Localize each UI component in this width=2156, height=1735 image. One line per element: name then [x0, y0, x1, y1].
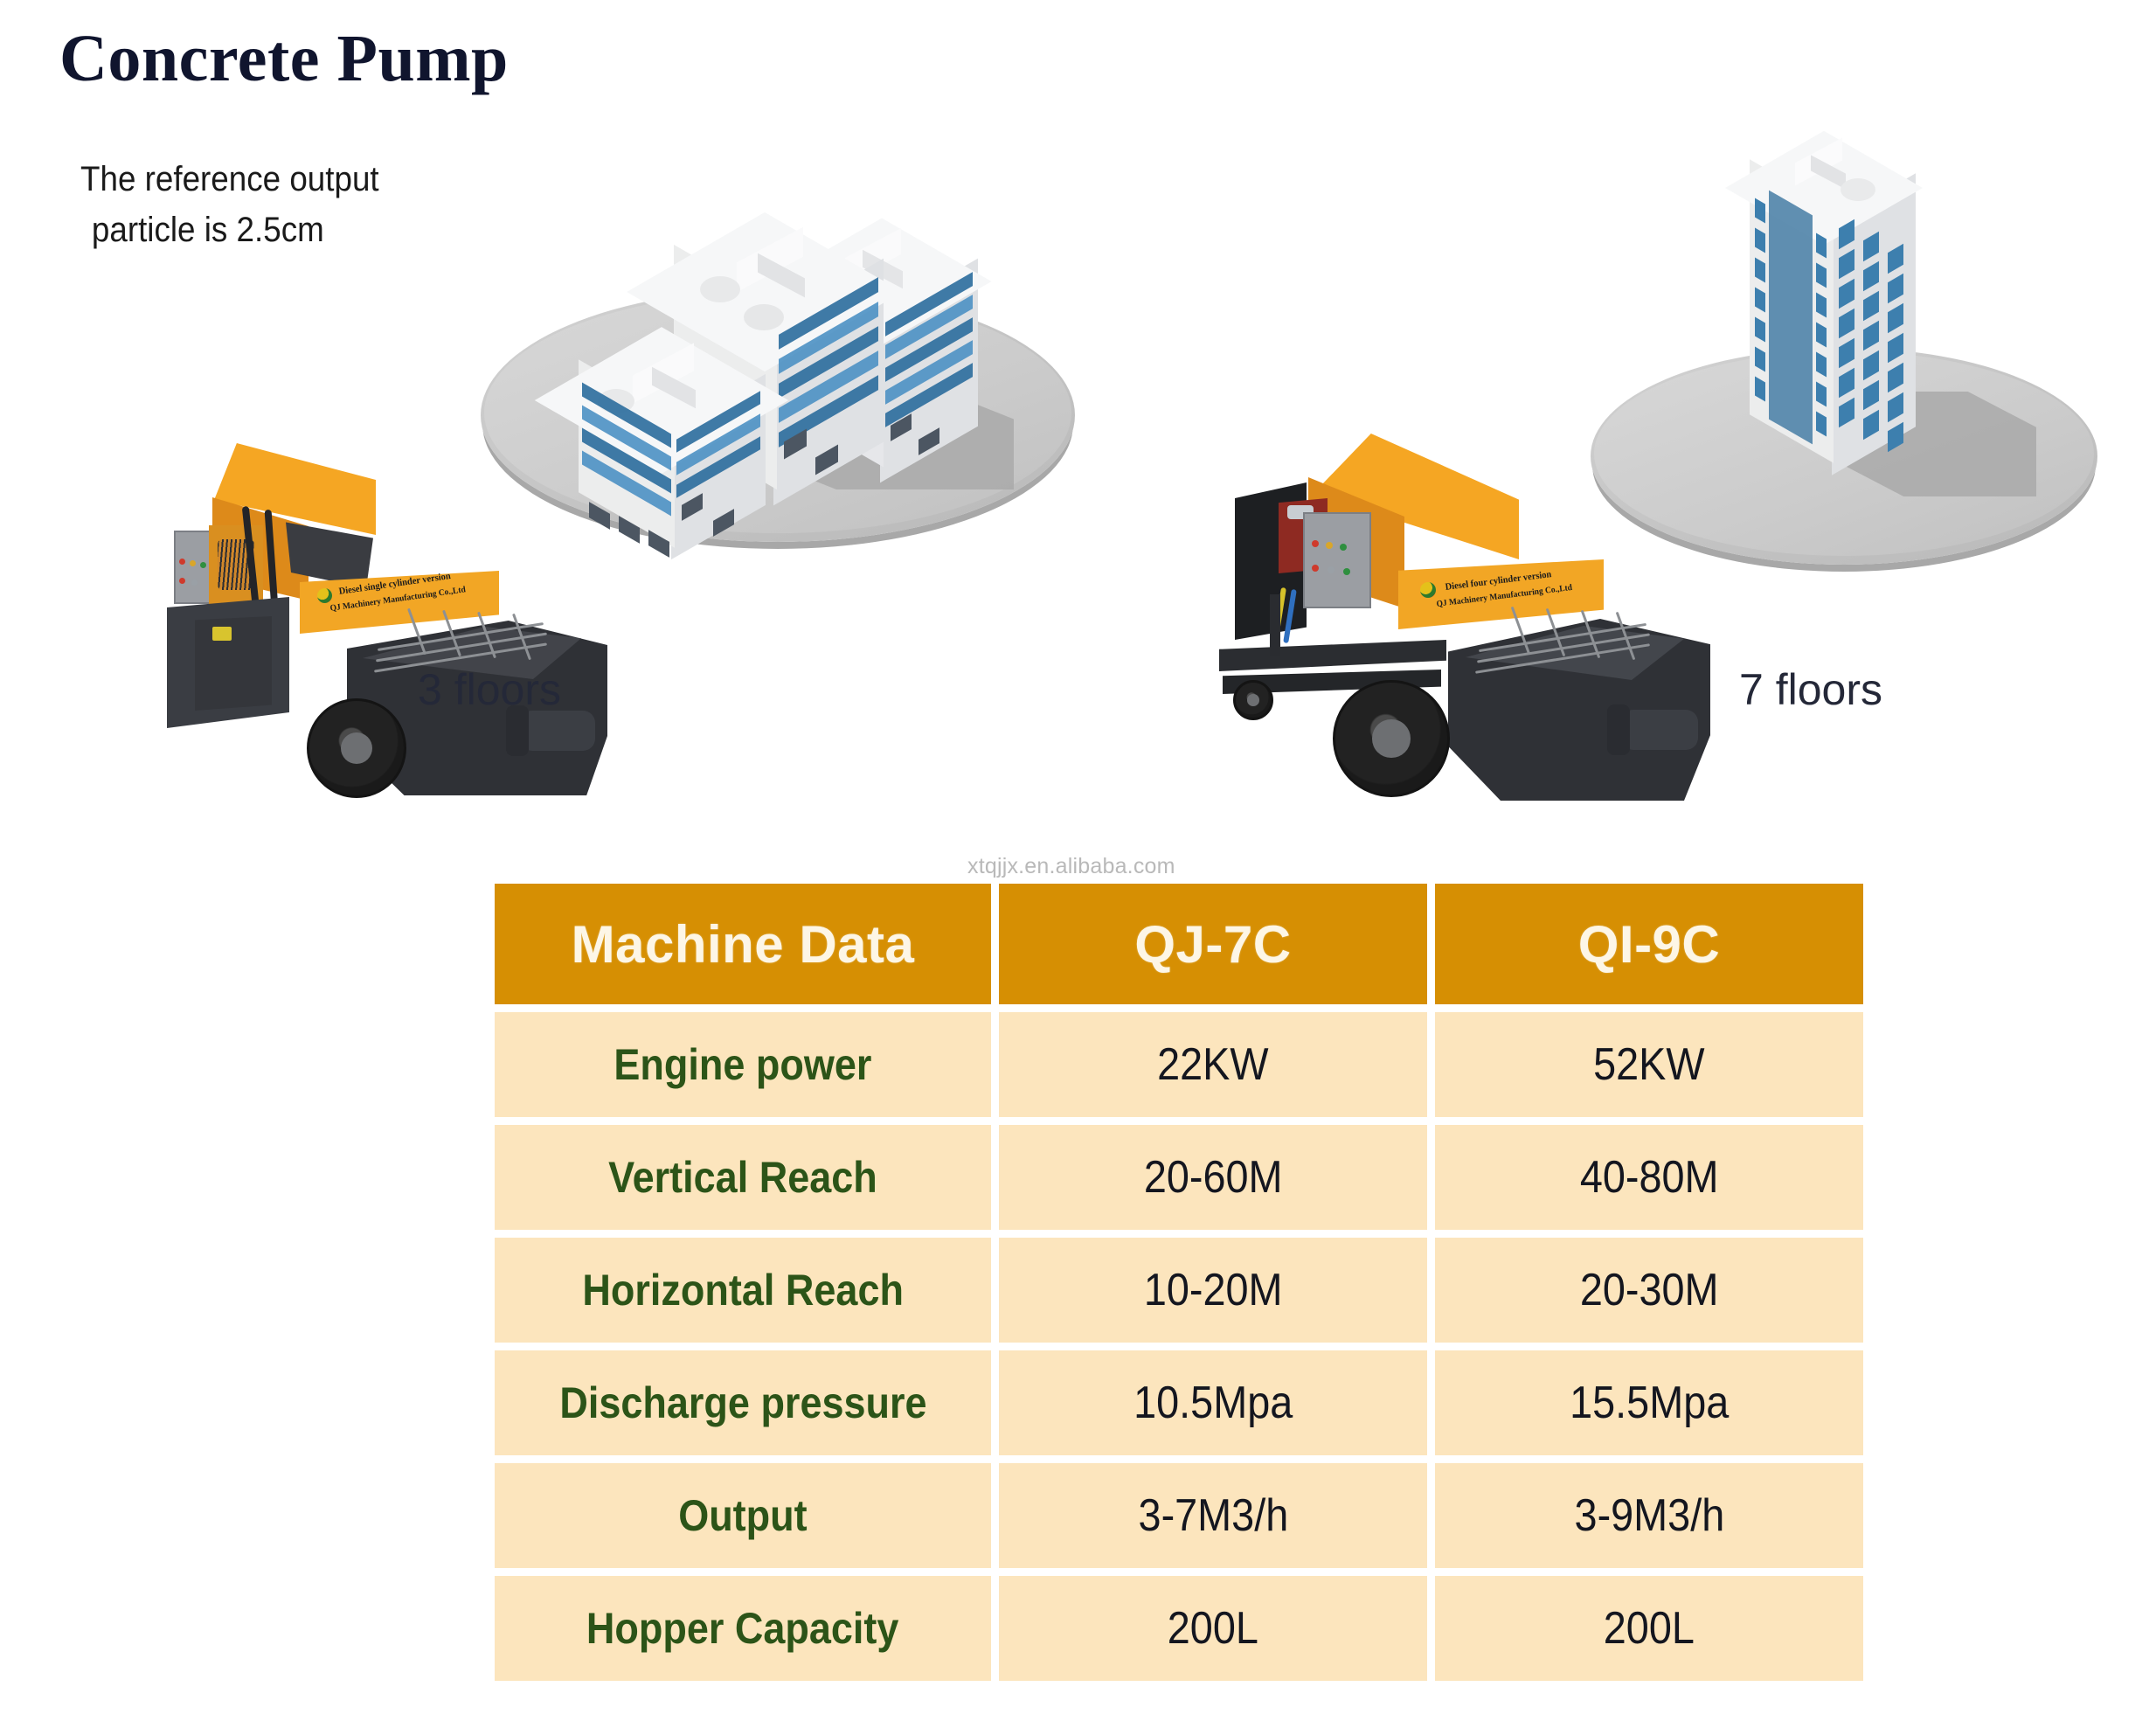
row-value-text: 15.5Mpa: [1570, 1377, 1729, 1429]
row-value-qj7c: 10-20M: [999, 1238, 1427, 1343]
concrete-pump-machine-left: Diesel single cylinder version QJ Machin…: [144, 433, 642, 843]
row-value-text: 10-20M: [1144, 1264, 1283, 1316]
header-model-qj7c: QJ-7C: [999, 884, 1427, 1004]
subtitle-text: The reference output particle is 2.5cm: [80, 154, 498, 255]
row-value-qj7c: 3-7M3/h: [999, 1463, 1427, 1568]
tower-glass-curtain: [1769, 191, 1813, 445]
caster-wheel: [1233, 680, 1273, 720]
row-value-qi9c: 3-9M3/h: [1435, 1463, 1863, 1568]
row-value-text: 52KW: [1593, 1038, 1704, 1091]
control-panel: [1303, 512, 1371, 608]
row-value-text: 3-9M3/h: [1574, 1489, 1724, 1542]
rooftop-tank: [744, 304, 784, 330]
table-row: Hopper Capacity 200L 200L: [495, 1576, 1863, 1681]
row-value-qj7c: 200L: [999, 1576, 1427, 1681]
indicator-light: [1312, 565, 1319, 572]
row-label-text: Discharge pressure: [559, 1378, 926, 1428]
floor-caption-left: 3 floors: [418, 664, 561, 715]
machine-wheel: [1333, 680, 1450, 797]
row-label-text: Hopper Capacity: [586, 1603, 899, 1654]
row-label: Engine power: [495, 1012, 991, 1117]
row-value-text: 22KW: [1157, 1038, 1268, 1091]
row-value-qi9c: 20-30M: [1435, 1238, 1863, 1343]
machine-wheel: [307, 698, 406, 798]
highrise-tower: [1704, 131, 1966, 533]
discharge-outlet-pipe: [520, 711, 595, 751]
indicator-light: [179, 578, 185, 584]
row-label-text: Horizontal Reach: [582, 1265, 904, 1315]
row-value-text: 10.5Mpa: [1133, 1377, 1293, 1429]
tank-door-panel: [195, 616, 272, 711]
row-value-text: 40-80M: [1580, 1151, 1719, 1204]
row-value-text: 200L: [1168, 1602, 1258, 1655]
row-label-text: Engine power: [614, 1039, 871, 1090]
discharge-outlet-flange: [1607, 704, 1630, 755]
row-value-text: 20-60M: [1144, 1151, 1283, 1204]
discharge-outlet-pipe: [1621, 710, 1698, 750]
row-label-text: Output: [678, 1490, 807, 1541]
header-machine-data: Machine Data: [495, 884, 991, 1004]
hopper-grate: [1474, 626, 1660, 678]
row-label: Discharge pressure: [495, 1350, 991, 1455]
indicator-light: [191, 579, 198, 586]
table-row: Horizontal Reach 10-20M 20-30M: [495, 1238, 1863, 1343]
row-label: Horizontal Reach: [495, 1238, 991, 1343]
row-label-text: Vertical Reach: [608, 1152, 877, 1203]
trailer-chassis-frame: [1219, 640, 1446, 671]
company-logo-icon: [317, 588, 332, 603]
row-value-text: 20-30M: [1580, 1264, 1719, 1316]
indicator-light: [190, 560, 196, 566]
company-logo-icon: [1420, 582, 1436, 598]
row-value-qi9c: 52KW: [1435, 1012, 1863, 1117]
row-value-qi9c: 40-80M: [1435, 1125, 1863, 1230]
table-row: Output 3-7M3/h 3-9M3/h: [495, 1463, 1863, 1568]
rooftop-tank: [700, 276, 740, 302]
indicator-light: [1326, 542, 1333, 549]
row-label: Output: [495, 1463, 991, 1568]
header-model-qi9c: QI-9C: [1435, 884, 1863, 1004]
page-title: Concrete Pump: [59, 21, 509, 97]
table-row: Discharge pressure 10.5Mpa 15.5Mpa: [495, 1350, 1863, 1455]
row-value-qj7c: 20-60M: [999, 1125, 1427, 1230]
row-value-qj7c: 10.5Mpa: [999, 1350, 1427, 1455]
concrete-pump-machine-right: Diesel four cylinder version QJ Machiner…: [1210, 428, 1735, 848]
table-row: Engine power 22KW 52KW: [495, 1012, 1863, 1117]
row-label: Hopper Capacity: [495, 1576, 991, 1681]
chassis-leg: [1270, 594, 1280, 656]
row-value-qj7c: 22KW: [999, 1012, 1427, 1117]
rooftop-tank: [1841, 178, 1875, 201]
indicator-light: [1328, 566, 1335, 573]
indicator-light: [179, 559, 185, 565]
warning-label-icon: [212, 627, 232, 641]
floor-caption-right: 7 floors: [1739, 664, 1882, 715]
row-value-qi9c: 200L: [1435, 1576, 1863, 1681]
indicator-light: [1343, 568, 1350, 575]
row-value-qi9c: 15.5Mpa: [1435, 1350, 1863, 1455]
subtitle-line-1: The reference output: [80, 160, 379, 198]
row-value-text: 200L: [1604, 1602, 1695, 1655]
row-label: Vertical Reach: [495, 1125, 991, 1230]
indicator-light: [1312, 540, 1319, 547]
specification-table: Machine Data QJ-7C QI-9C Engine power 22…: [487, 876, 1871, 1689]
subtitle-line-2: particle is 2.5cm: [80, 205, 498, 255]
table-header-row: Machine Data QJ-7C QI-9C: [495, 884, 1863, 1004]
table-row: Vertical Reach 20-60M 40-80M: [495, 1125, 1863, 1230]
indicator-light: [200, 562, 206, 568]
table-body: Engine power 22KW 52KW Vertical Reach 20…: [495, 1012, 1863, 1681]
indicator-light: [1340, 544, 1347, 551]
row-value-text: 3-7M3/h: [1138, 1489, 1288, 1542]
